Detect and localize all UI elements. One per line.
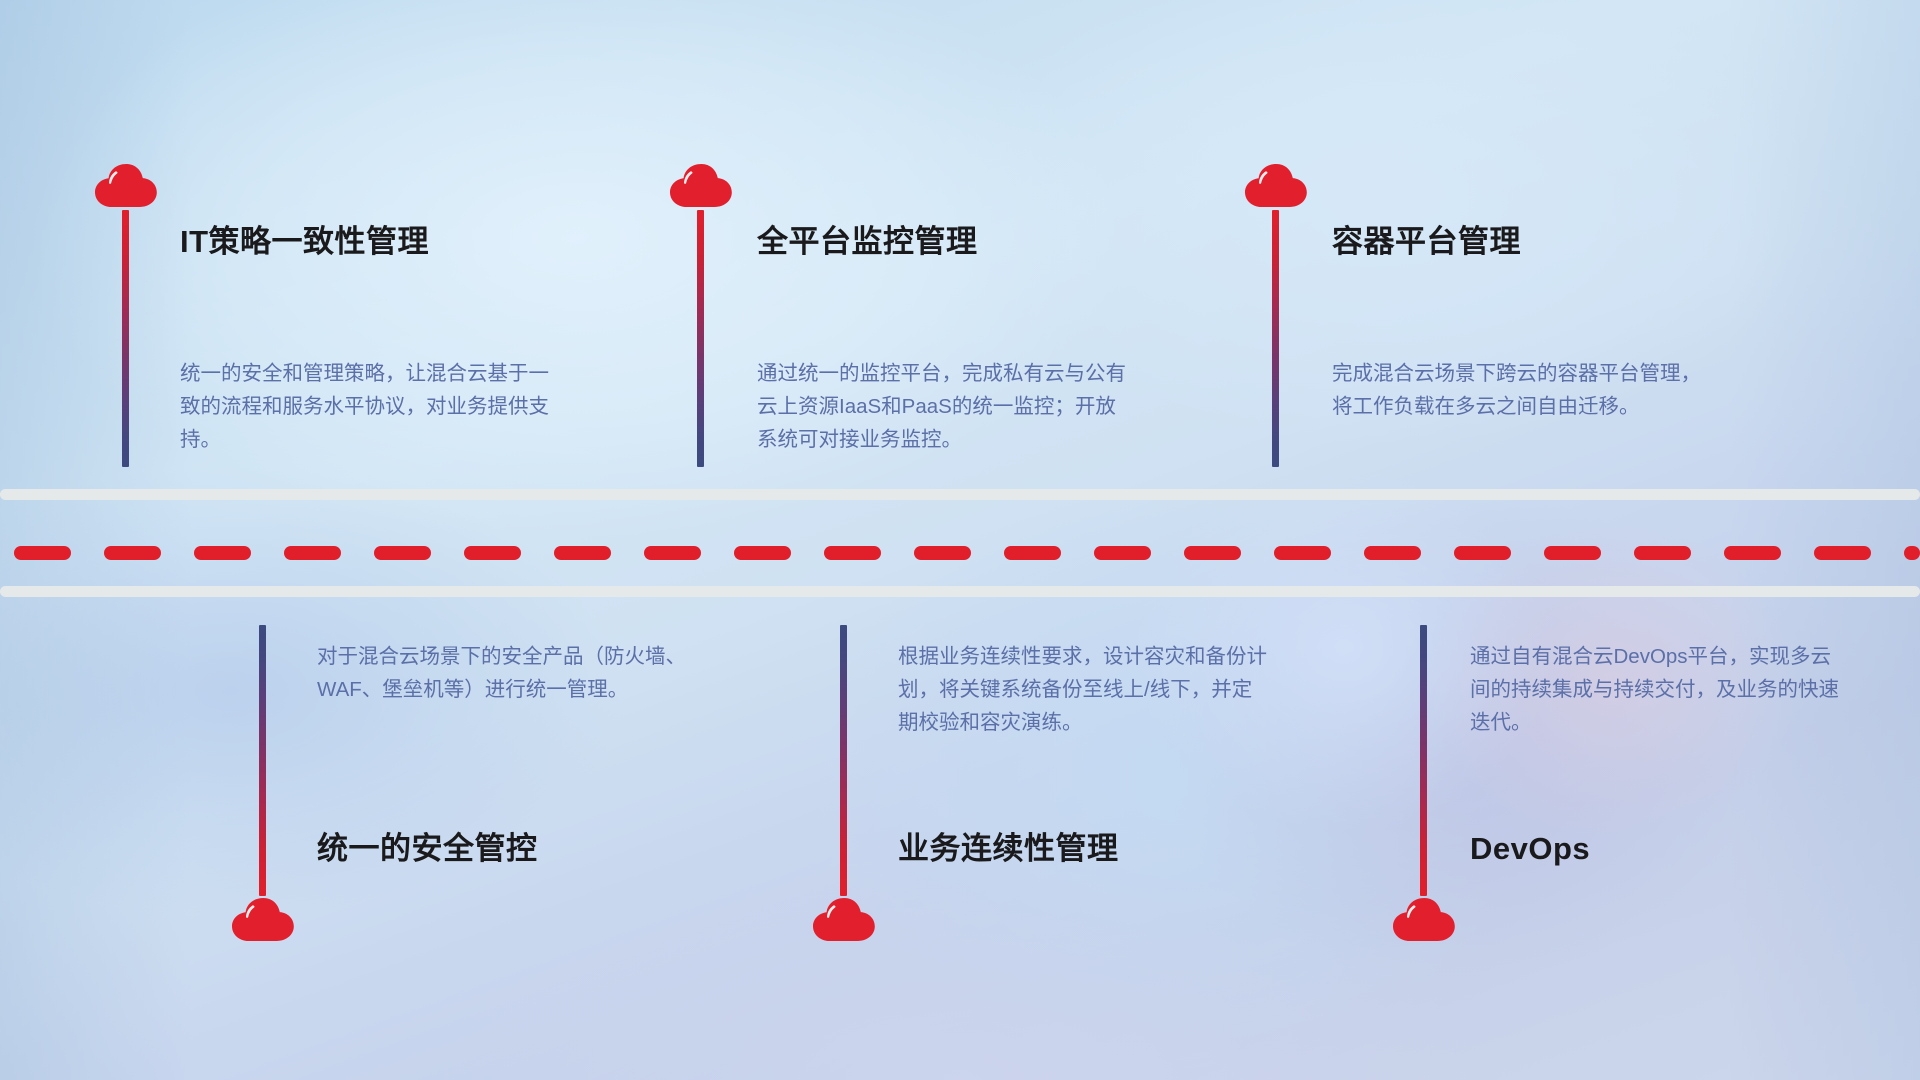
road-line-lower <box>0 586 1920 597</box>
milestone-devops[interactable]: 通过自有混合云DevOps平台，实现多云间的持续集成与持续交付，及业务的快速迭代… <box>0 0 640 480</box>
road-dash <box>104 546 161 560</box>
milestone-title: 容器平台管理 <box>1332 226 1521 257</box>
milestone-description: 通过统一的监控平台，完成私有云与公有云上资源IaaS和PaaS的统一监控；开放系… <box>757 357 1127 457</box>
road-dash <box>1904 546 1920 560</box>
milestone-title: 统一的安全管控 <box>317 833 538 864</box>
timeline-stem <box>1420 625 1427 896</box>
milestone-title: DevOps <box>1470 833 1590 864</box>
road-dash <box>1094 546 1151 560</box>
road-dash <box>1634 546 1691 560</box>
road-dash <box>284 546 341 560</box>
road-dash <box>14 546 71 560</box>
timeline-stem <box>840 625 847 896</box>
road-dash <box>1454 546 1511 560</box>
cloud-icon <box>811 896 877 948</box>
milestone-title: 业务连续性管理 <box>898 833 1119 864</box>
road-dash <box>1544 546 1601 560</box>
road-dash <box>464 546 521 560</box>
cloud-icon <box>668 162 734 214</box>
road-dash <box>914 546 971 560</box>
road-dash <box>1184 546 1241 560</box>
milestone-description: 完成混合云场景下跨云的容器平台管理，将工作负载在多云之间自由迁移。 <box>1332 357 1702 423</box>
milestone-title: 全平台监控管理 <box>757 226 978 257</box>
road-line-upper <box>0 489 1920 500</box>
road-dash <box>734 546 791 560</box>
road-dash <box>1814 546 1871 560</box>
milestone-description: 对于混合云场景下的安全产品（防火墙、WAF、堡垒机等）进行统一管理。 <box>317 640 687 706</box>
road-dash <box>1004 546 1061 560</box>
road-dash <box>554 546 611 560</box>
road-dash <box>644 546 701 560</box>
road-dash <box>1364 546 1421 560</box>
road-dash <box>1724 546 1781 560</box>
road-dash-track <box>0 546 1920 560</box>
cloud-icon <box>1391 896 1457 948</box>
road-dash <box>194 546 251 560</box>
timeline-stem <box>1272 210 1279 467</box>
milestone-description: 通过自有混合云DevOps平台，实现多云间的持续集成与持续交付，及业务的快速迭代… <box>1470 640 1840 740</box>
timeline-stem <box>697 210 704 467</box>
milestone-description: 根据业务连续性要求，设计容灾和备份计划，将关键系统备份至线上/线下，并定期校验和… <box>898 640 1268 740</box>
timeline-stem <box>259 625 266 896</box>
cloud-icon <box>1243 162 1309 214</box>
cloud-icon <box>230 896 296 948</box>
road-dash <box>824 546 881 560</box>
road-dash <box>1274 546 1331 560</box>
road-dash <box>374 546 431 560</box>
